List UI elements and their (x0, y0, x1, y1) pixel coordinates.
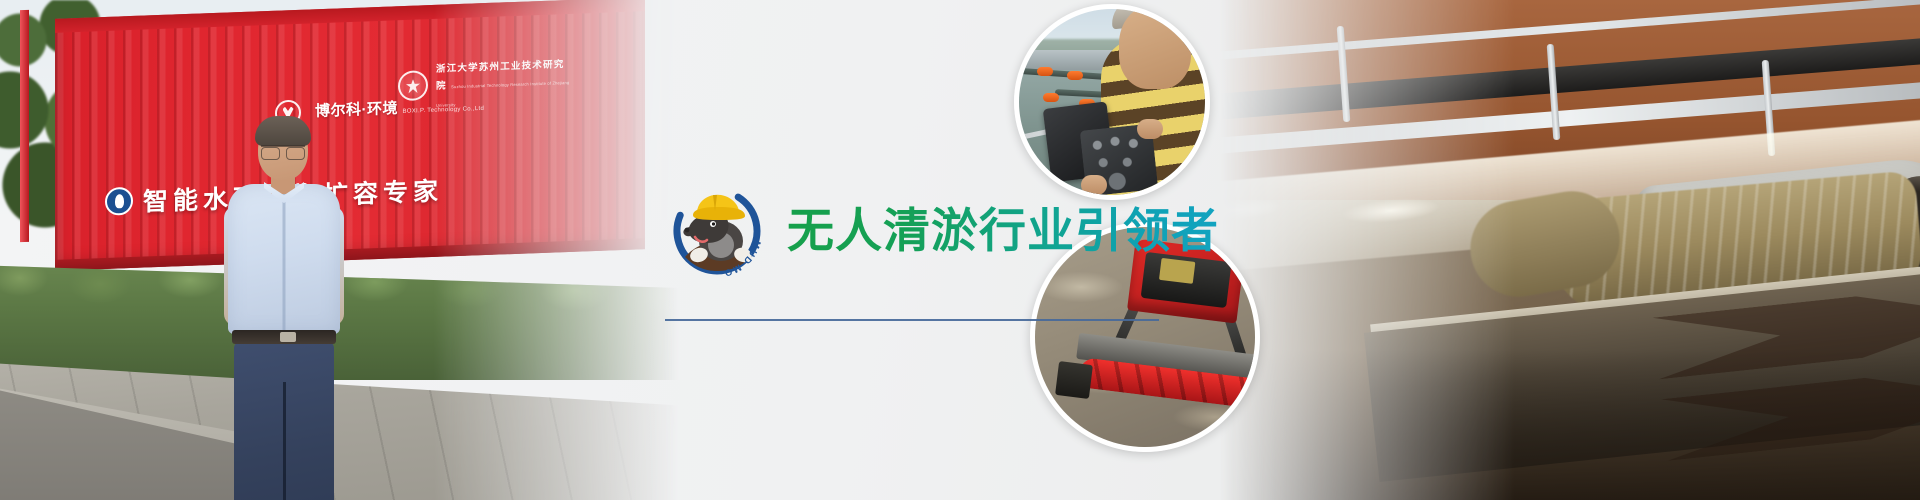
logo-mole-pupil (712, 222, 715, 225)
headline-text: 无人清淤行业引领者 (787, 206, 1219, 255)
person-figure (228, 120, 340, 500)
headline-divider (665, 319, 1159, 321)
hero-banner: 博尔科·环境 BOXI.P. Technology Co.,Ltd 浙江大学苏州… (0, 0, 1920, 500)
university-seal-icon (398, 70, 428, 101)
slogan-badge-icon (105, 187, 133, 216)
person-glasses (261, 145, 305, 156)
bottom-vignette (1220, 350, 1920, 500)
person-hair (255, 116, 311, 146)
headline-row: MUD MOLE 无人清淤行业引领者 (665, 179, 1275, 283)
person-belt (232, 330, 336, 344)
logo-helmet-brim (693, 207, 745, 220)
person-shirt (228, 184, 340, 334)
hedge-row (0, 250, 700, 380)
container-institute-logo: 浙江大学苏州工业技术研究院 Suzhou Industrial Technolo… (398, 57, 573, 109)
mud-mole-logo: MUD MOLE (665, 179, 769, 283)
container-brand-cn: 博尔科·环境 (315, 100, 398, 120)
right-photo (1220, 0, 1920, 500)
center-content: MUD MOLE 无人清淤行业引领者 (655, 0, 1275, 500)
left-photo: 博尔科·环境 BOXI.P. Technology Co.,Ltd 浙江大学苏州… (0, 0, 700, 500)
container-door-edge (20, 10, 29, 242)
person-trousers (234, 342, 334, 500)
container-institute-en: Suzhou Industrial Technology Research In… (436, 80, 569, 107)
logo-mole-nose-icon (685, 228, 690, 233)
